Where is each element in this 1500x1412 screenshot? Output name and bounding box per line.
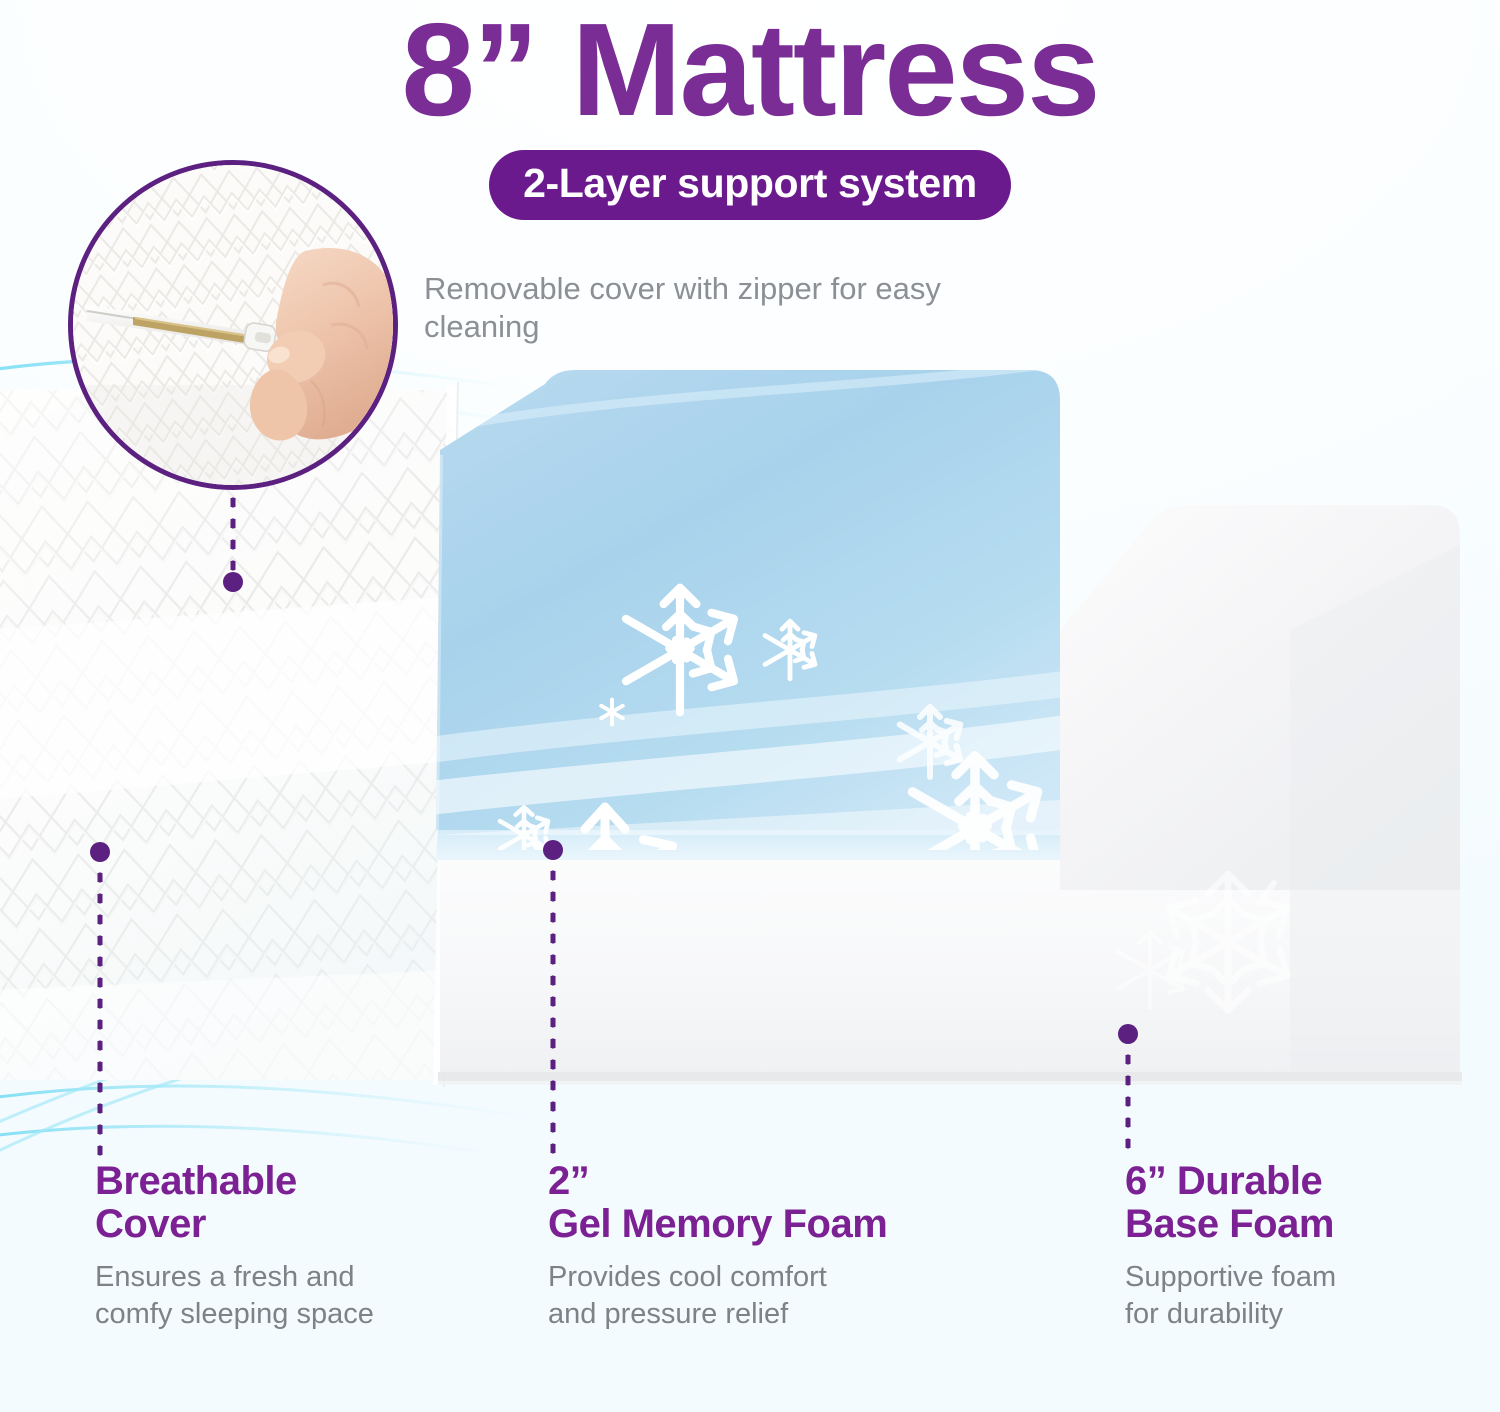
- leader-dots: [1126, 1028, 1131, 1156]
- leader-dots: [551, 844, 556, 1156]
- leader-endpoint-dot: [543, 840, 563, 860]
- zipper-closeup-photo: [68, 160, 398, 490]
- leader-endpoint-dot: [223, 572, 243, 592]
- leader-line-base-foam: [1121, 1028, 1135, 1156]
- feature-gel-memory-foam: 2” Gel Memory Foam Provides cool comfort…: [548, 1160, 1018, 1334]
- feature-description: Supportive foam for durability: [1125, 1259, 1500, 1333]
- feature-description: Ensures a fresh and comfy sleeping space: [95, 1259, 495, 1333]
- leader-dots: [98, 846, 103, 1156]
- feature-label-group: Breathable Cover Ensures a fresh and com…: [0, 1160, 1500, 1380]
- leader-endpoint-dot: [90, 842, 110, 862]
- feature-durable-base-foam: 6” Durable Base Foam Supportive foam for…: [1125, 1160, 1500, 1334]
- leader-line-cover: [93, 846, 107, 1156]
- leader-line-zipper: [226, 492, 240, 588]
- zipper-note: Removable cover with zipper for easy cle…: [424, 270, 944, 346]
- feature-heading: 2” Gel Memory Foam: [548, 1160, 1018, 1246]
- feature-heading: Breathable Cover: [95, 1160, 495, 1246]
- feature-heading: 6” Durable Base Foam: [1125, 1160, 1500, 1246]
- mattress-base-line: [438, 1072, 1462, 1081]
- infographic-canvas: 8” Mattress 2-Layer support system: [0, 0, 1500, 1412]
- feature-breathable-cover: Breathable Cover Ensures a fresh and com…: [95, 1160, 495, 1334]
- feature-description: Provides cool comfort and pressure relie…: [548, 1259, 1018, 1333]
- leader-line-gel-foam: [546, 844, 560, 1156]
- leader-endpoint-dot: [1118, 1024, 1138, 1044]
